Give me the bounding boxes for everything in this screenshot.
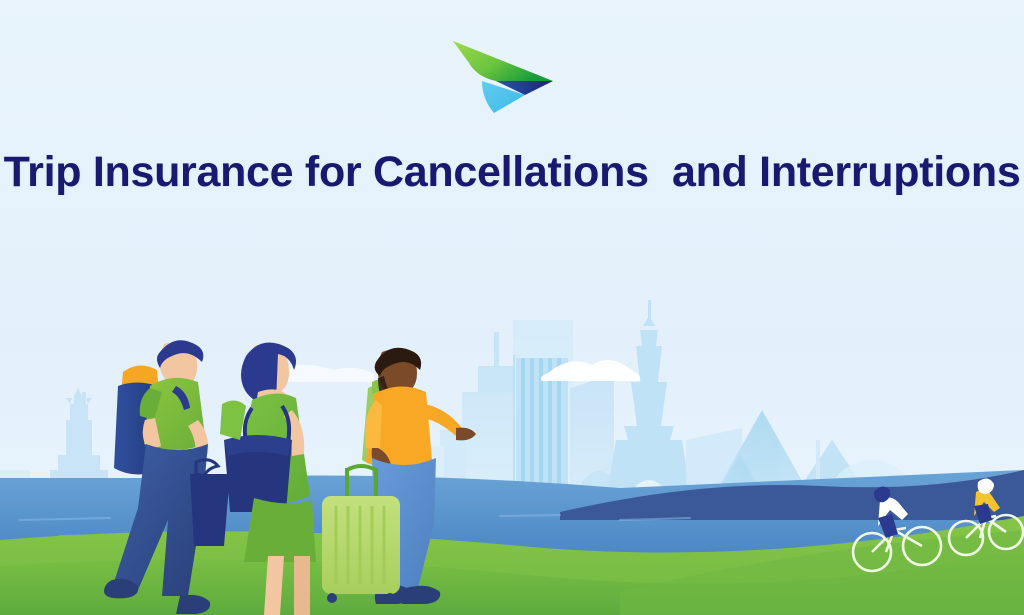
banner-root: Trip Insurance for Cancellations and Int… xyxy=(0,0,1024,615)
paper-plane-logo xyxy=(449,33,559,115)
page-title: Trip Insurance for Cancellations and Int… xyxy=(0,148,1024,198)
traveler-woman-dress xyxy=(220,343,316,615)
traveler-man-backpack xyxy=(104,340,230,614)
traveler-man-suitcase xyxy=(322,348,476,604)
